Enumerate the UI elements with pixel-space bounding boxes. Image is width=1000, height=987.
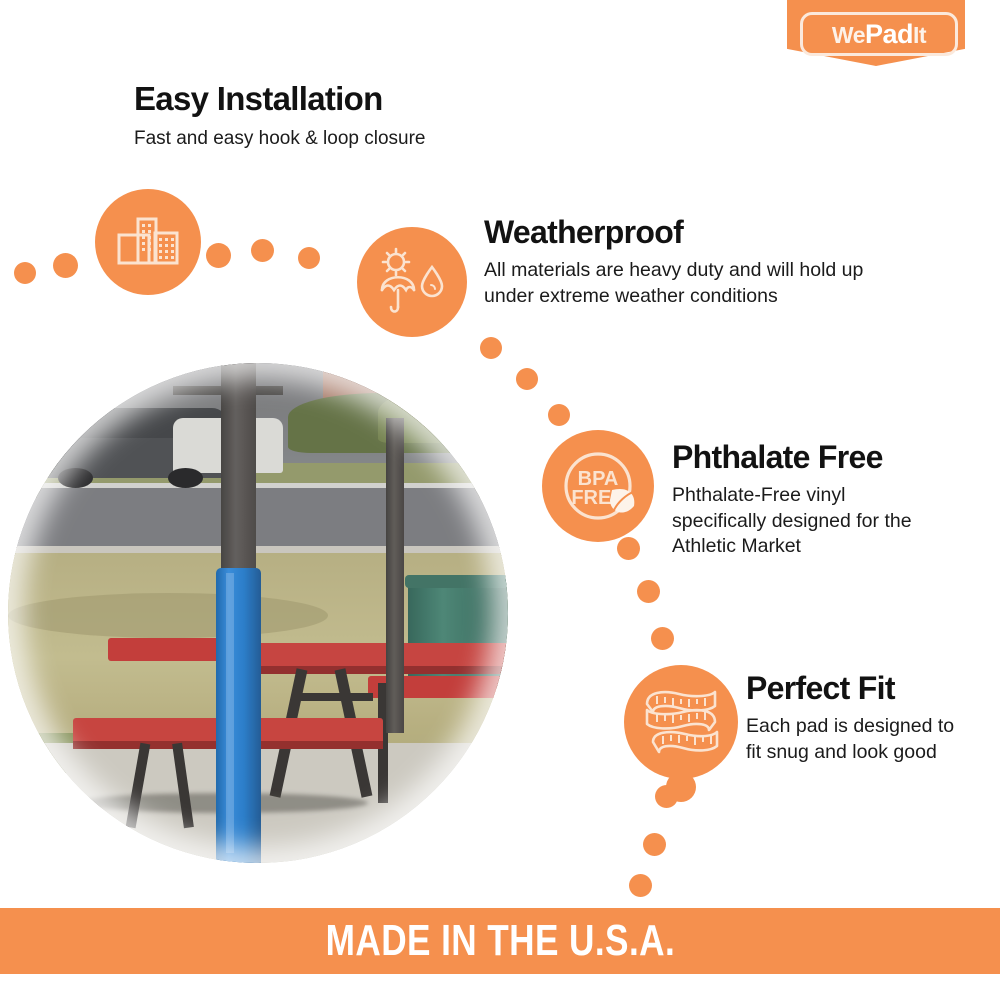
feature-description-weatherproof: All materials are heavy duty and will ho…: [484, 258, 884, 309]
path-dot: [14, 262, 36, 284]
brand-logo-part-we: We: [832, 22, 865, 48]
path-dot: [637, 580, 660, 603]
path-dot: [206, 243, 231, 268]
path-dot: [516, 368, 538, 390]
made-in-usa-banner: MADE IN THE U.S.A.: [0, 908, 1000, 974]
feature-title-easy-installation: Easy Installation: [134, 82, 383, 115]
path-dot: [298, 247, 320, 269]
made-in-usa-text: MADE IN THE U.S.A.: [325, 916, 674, 966]
product-photo: [8, 363, 508, 863]
path-dot: [53, 253, 78, 278]
path-dot: [251, 239, 274, 262]
feature-description-phthalate-free: Phthalate-Free vinyl specifically design…: [672, 483, 940, 560]
building-icon: [117, 215, 179, 269]
infographic-canvas: WePadIt Easy Installation Fast and easy …: [0, 0, 1000, 987]
path-dot: [643, 833, 666, 856]
tape-measure-icon: [639, 684, 723, 760]
feature-icon-phthalate-free: BPA FREE: [542, 430, 654, 542]
photo-edge-fade: [8, 363, 508, 863]
path-dot: [651, 627, 674, 650]
umbrella-sun-rain-icon: [374, 247, 450, 317]
feature-icon-weatherproof: [357, 227, 467, 337]
brand-logo-text: WePadIt: [832, 21, 926, 48]
feature-description-perfect-fit: Each pad is designed to fit snug and loo…: [746, 714, 972, 765]
path-dot: [617, 537, 640, 560]
feature-icon-perfect-fit: [624, 665, 738, 779]
feature-title-weatherproof: Weatherproof: [484, 216, 683, 248]
product-photo-scene: [8, 363, 508, 863]
feature-icon-easy-installation: [95, 189, 201, 295]
brand-logo-part-pad: Pad: [865, 19, 913, 49]
tape-measure-icon-knob: [666, 772, 696, 802]
path-dot: [629, 874, 652, 897]
feature-description-easy-installation: Fast and easy hook & loop closure: [134, 126, 554, 151]
feature-title-perfect-fit: Perfect Fit: [746, 672, 895, 704]
bpa-free-leaf-icon: BPA FREE: [554, 442, 642, 530]
brand-logo-part-it: It: [913, 22, 926, 48]
brand-logo: WePadIt: [800, 12, 958, 56]
path-dot: [480, 337, 502, 359]
path-dot: [548, 404, 570, 426]
feature-title-phthalate-free: Phthalate Free: [672, 441, 883, 473]
